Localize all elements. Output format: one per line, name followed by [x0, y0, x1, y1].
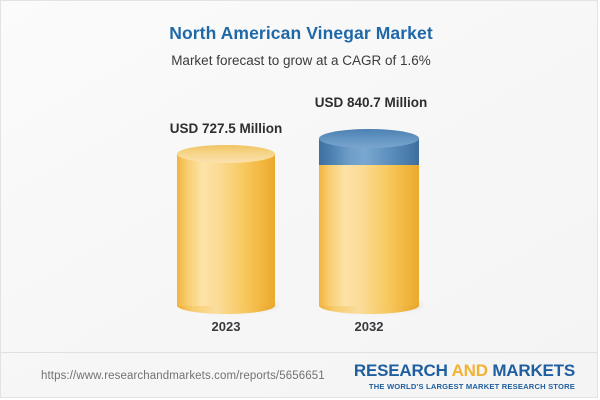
bar-2032[interactable]	[319, 129, 419, 306]
bar-value-label-2023: USD 727.5 Million	[116, 121, 336, 136]
x-axis-label-2032: 2032	[259, 319, 479, 334]
research-and-markets-logo[interactable]: RESEARCH AND MARKETS THE WORLD'S LARGEST…	[354, 362, 575, 391]
logo-word-and: AND	[448, 361, 488, 380]
bar-body-yellow	[319, 164, 419, 306]
logo-tagline: THE WORLD'S LARGEST MARKET RESEARCH STOR…	[354, 382, 575, 391]
bar-2023[interactable]	[177, 145, 275, 306]
bar-top-cap-yellow	[177, 145, 275, 163]
logo-wordmark: RESEARCH AND MARKETS	[354, 362, 575, 380]
report-url[interactable]: https://www.researchandmarkets.com/repor…	[41, 370, 325, 382]
footer-divider	[1, 352, 598, 353]
bar-top-cap-blue	[319, 129, 419, 148]
chart-plot-area: USD 727.5 Million 2023 USD 840.7 Million…	[1, 1, 598, 351]
bar-body-yellow	[177, 154, 275, 306]
bar-value-label-2032: USD 840.7 Million	[261, 95, 481, 110]
chart-card: North American Vinegar Market Market for…	[0, 0, 598, 398]
logo-word-markets: MARKETS	[488, 361, 575, 380]
logo-word-research: RESEARCH	[354, 361, 448, 380]
